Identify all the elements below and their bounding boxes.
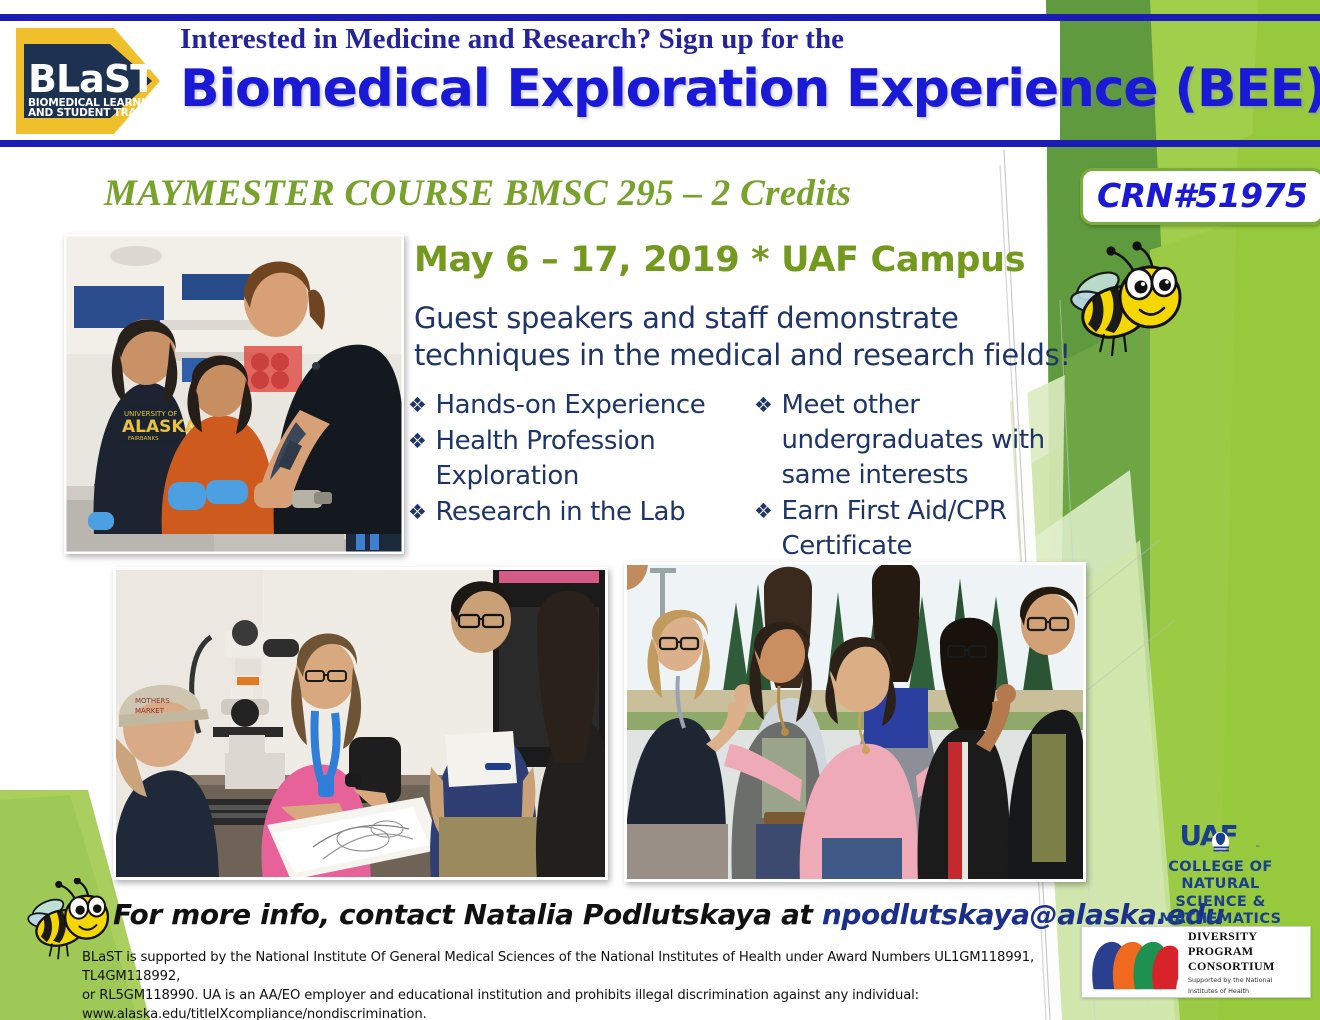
disclaimer-line-3: www.alaska.edu/titleIXcompliance/nondisc… — [82, 1005, 1092, 1020]
contact-line: For more info, contact Natalia Podlutska… — [113, 898, 1224, 931]
header-text-block: Interested in Medicine and Research? Sig… — [180, 22, 1310, 120]
lead-line-1: Guest speakers and staff demonstrate — [414, 300, 1094, 337]
list-item: ❖ Meet other undergraduates with same in… — [754, 388, 1074, 493]
svg-text:AND STUDENT TRAINING: AND STUDENT TRAINING — [28, 107, 164, 119]
list-item-label: Research in the Lab — [435, 495, 728, 530]
course-dates: May 6 – 17, 2019 * UAF Campus — [414, 240, 1025, 280]
diamond-bullet-icon: ❖ — [754, 494, 772, 529]
diversity-program-consortium-logo: DIVERSITY PROGRAM CONSORTIUM Supported b… — [1081, 926, 1311, 998]
poster-root: BLaST BIOMEDICAL LEARNING AND STUDENT TR… — [0, 0, 1320, 1020]
dpc-line-1: DIVERSITY — [1188, 929, 1310, 944]
bee-icon — [1060, 240, 1210, 375]
funding-disclaimer: BLaST is supported by the National Insti… — [82, 948, 1092, 1020]
dpc-line-2: PROGRAM — [1188, 944, 1310, 959]
poster-header: BLaST BIOMEDICAL LEARNING AND STUDENT TR… — [0, 0, 1320, 160]
uaf-cnsm-logo: UAF ™ COLLEGE OF NATURAL SCIENCE & MATHE… — [1128, 818, 1313, 910]
svg-text:BLaST: BLaST — [28, 57, 156, 101]
diamond-bullet-icon: ❖ — [408, 388, 426, 423]
list-item-label: Earn First Aid/CPR Certificate — [781, 494, 1074, 564]
svg-text:™: ™ — [1255, 846, 1260, 852]
student-group-photo — [624, 562, 1086, 882]
list-item-label: Meet other undergraduates with same inte… — [781, 388, 1074, 493]
svg-text:MARKET: MARKET — [135, 707, 165, 715]
bullets-column-left: ❖ Hands-on Experience ❖ Health Professio… — [408, 388, 728, 565]
uaf-college-line-2: SCIENCE & MATHEMATICS — [1128, 894, 1313, 928]
dpc-sub-line-2: Institutes of Health — [1188, 987, 1310, 995]
header-rule-bottom — [0, 140, 1320, 147]
cpr-training-photo: UNIVERSITY OF ALASKA FAIRBANKS — [64, 234, 404, 554]
lab-microscope-photo: MOTHERS MARKET — [113, 567, 608, 880]
crn-badge: CRN#51975 — [1080, 168, 1320, 225]
dpc-line-3: CONSORTIUM — [1188, 959, 1310, 974]
page-title: Biomedical Exploration Experience (BEE) — [180, 58, 1310, 120]
lead-paragraph: Guest speakers and staff demonstrate tec… — [414, 300, 1094, 374]
list-item: ❖ Research in the Lab — [408, 495, 728, 530]
dpc-sub-line-1: Supported by the National — [1188, 976, 1310, 984]
header-rule-top — [0, 14, 1320, 21]
diverse-heads-icon — [1082, 931, 1186, 993]
bullets-column-right: ❖ Meet other undergraduates with same in… — [754, 388, 1074, 565]
list-item-label: Hands-on Experience — [435, 388, 728, 423]
diamond-bullet-icon: ❖ — [408, 424, 426, 459]
diamond-bullet-icon: ❖ — [408, 495, 426, 530]
diamond-bullet-icon: ❖ — [754, 388, 772, 423]
disclaimer-line-1: BLaST is supported by the National Insti… — [82, 948, 1092, 986]
list-item-label: Health Profession Exploration — [435, 424, 728, 494]
maymester-course-line: MAYMESTER COURSE BMSC 295 – 2 Credits — [104, 172, 851, 215]
list-item: ❖ Earn First Aid/CPR Certificate — [754, 494, 1074, 564]
contact-prefix: For more info, contact Natalia Podlutska… — [113, 898, 822, 931]
list-item: ❖ Health Profession Exploration — [408, 424, 728, 494]
blast-logo: BLaST BIOMEDICAL LEARNING AND STUDENT TR… — [14, 22, 164, 140]
dpc-wordmark: DIVERSITY PROGRAM CONSORTIUM Supported b… — [1186, 929, 1310, 995]
disclaimer-line-2: or RL5GM118990. UA is an AA/EO employer … — [82, 986, 1092, 1005]
uaf-mark-icon: UAF ™ — [1178, 818, 1263, 858]
svg-text:MOTHERS: MOTHERS — [135, 697, 170, 705]
lead-line-2: techniques in the medical and research f… — [414, 337, 1094, 374]
header-tagline: Interested in Medicine and Research? Sig… — [180, 22, 1310, 56]
uaf-college-line-1: COLLEGE OF NATURAL — [1128, 859, 1313, 893]
benefit-bullets: ❖ Hands-on Experience ❖ Health Professio… — [408, 388, 1098, 565]
list-item: ❖ Hands-on Experience — [408, 388, 728, 423]
svg-text:FAIRBANKS: FAIRBANKS — [128, 436, 159, 442]
